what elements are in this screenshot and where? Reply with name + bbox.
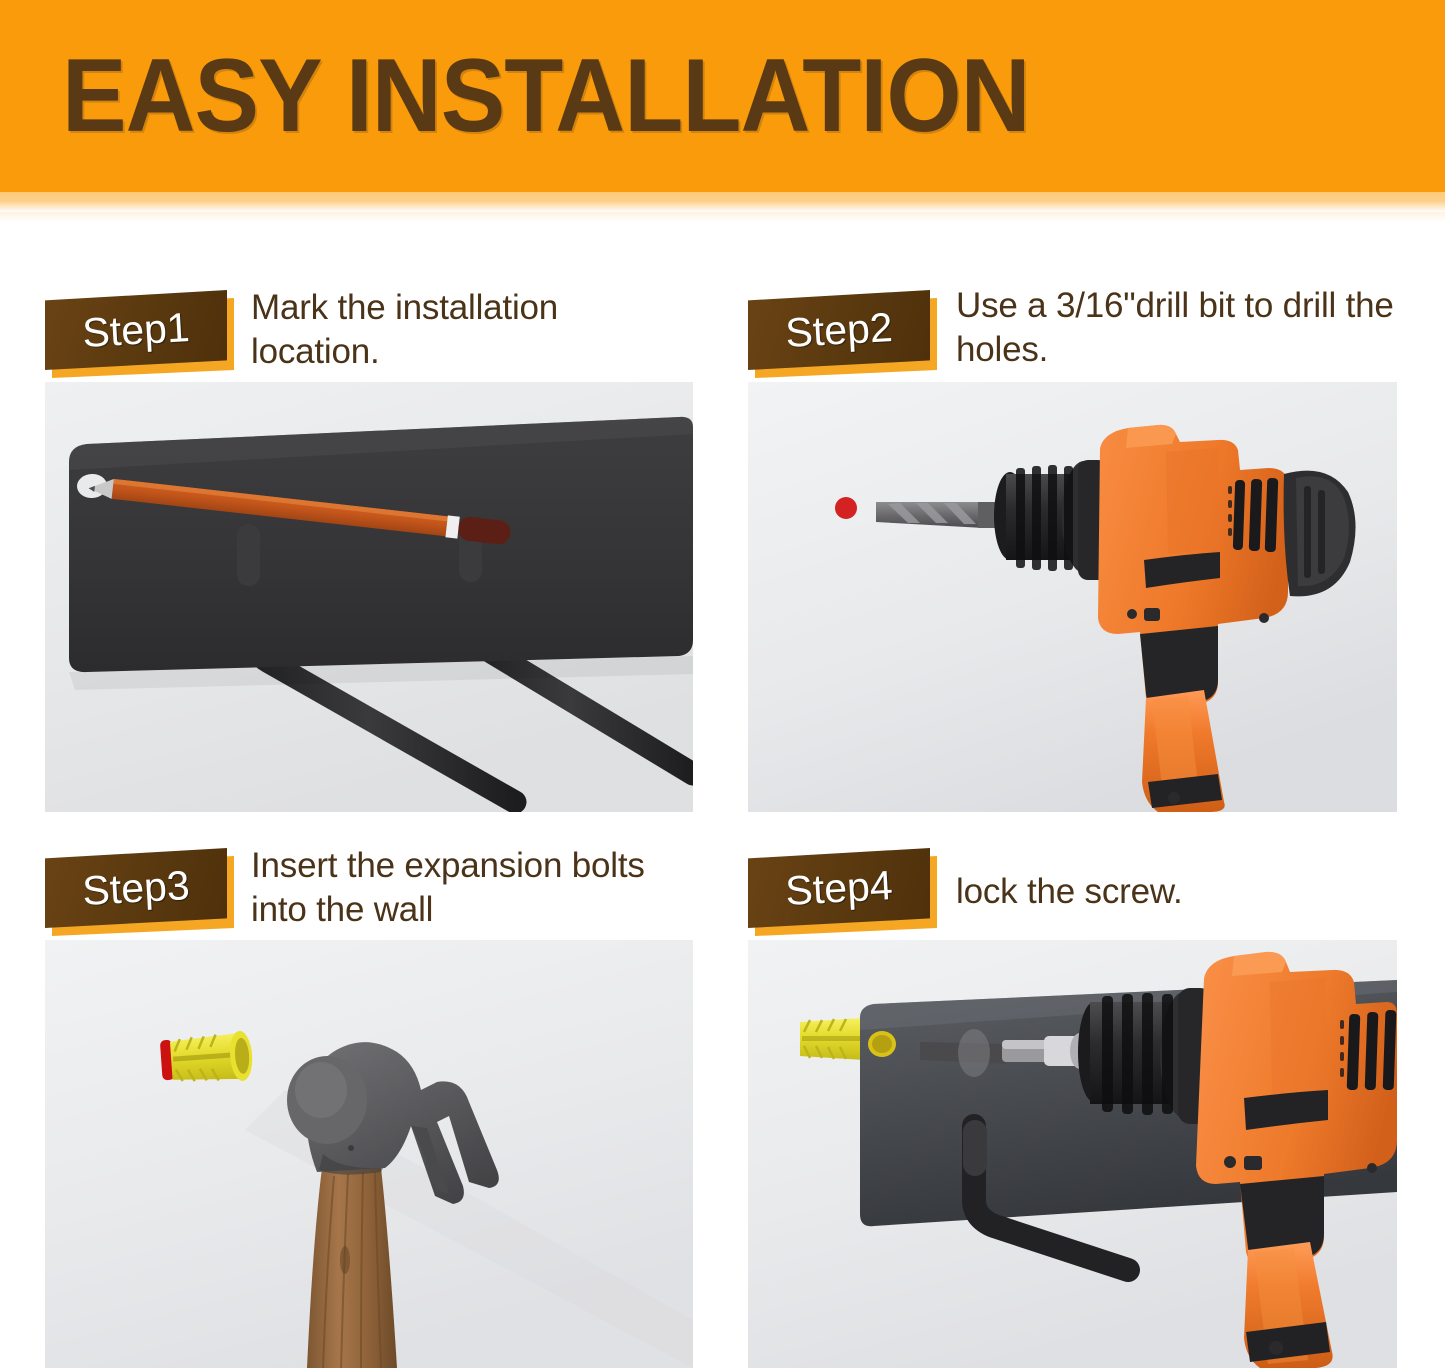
step-card-2: Step2 Use a 3/16"drill bit to drill the … <box>748 290 1397 812</box>
step-header-3: Step3 Insert the expansion bolts into th… <box>45 848 693 940</box>
step-card-3: Step3 Insert the expansion bolts into th… <box>45 848 693 1368</box>
step-caption-2: Use a 3/16"drill bit to drill the holes. <box>956 284 1397 372</box>
step-card-4: Step4 lock the screw. <box>748 848 1397 1368</box>
step-badge-label-2: Step2 <box>746 285 932 375</box>
drill-vents <box>1347 1010 1397 1090</box>
step-caption-1: Mark the installation location. <box>251 286 693 374</box>
step-badge-label-1: Step1 <box>43 285 229 375</box>
scene-lock-screw <box>748 940 1397 1368</box>
step-badge-label-3: Step3 <box>43 843 229 933</box>
wall-mount-plate <box>69 417 693 672</box>
scene-mark-location <box>45 382 693 812</box>
step-header-4: Step4 lock the screw. <box>748 848 1397 940</box>
drill-vents <box>1233 478 1279 552</box>
step-photo-4 <box>748 940 1397 1368</box>
banner-underglow <box>0 192 1445 212</box>
step-photo-2 <box>748 382 1397 812</box>
step-badge-1: Step1 <box>45 290 235 378</box>
page-title: EASY INSTALLATION <box>62 44 1030 148</box>
step-caption-3: Insert the expansion bolts into the wall <box>251 844 693 932</box>
step-card-1: Step1 Mark the installation location. <box>45 290 693 812</box>
scene-drill-holes <box>748 382 1397 812</box>
expansion-anchor <box>800 1018 864 1060</box>
step-photo-3 <box>45 940 693 1368</box>
step-badge-4: Step4 <box>748 848 938 936</box>
step-badge-label-4: Step4 <box>746 843 932 933</box>
step-badge-3: Step3 <box>45 848 235 936</box>
step-badge-2: Step2 <box>748 290 938 378</box>
drill-mark-dot <box>835 497 857 519</box>
steps-grid: Step1 Mark the installation location. <box>0 212 1445 1364</box>
scene-insert-anchors <box>45 940 693 1368</box>
header-banner: EASY INSTALLATION <box>0 0 1445 192</box>
step-caption-4: lock the screw. <box>956 870 1397 914</box>
step-header-1: Step1 Mark the installation location. <box>45 290 693 382</box>
step-header-2: Step2 Use a 3/16"drill bit to drill the … <box>748 290 1397 382</box>
step-photo-1 <box>45 382 693 812</box>
